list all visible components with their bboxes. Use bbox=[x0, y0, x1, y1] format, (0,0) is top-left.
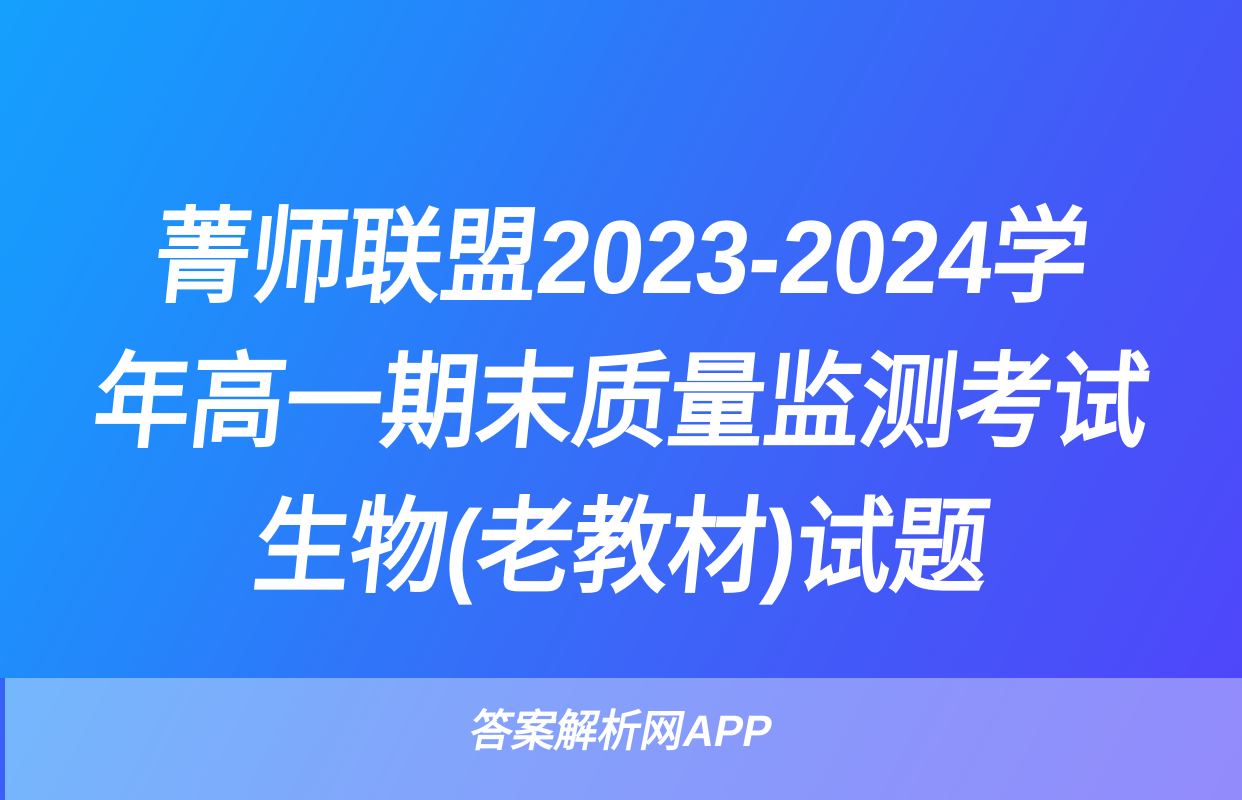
watermark-band-left-edge bbox=[0, 678, 5, 800]
watermark-label: 答案解析网APP bbox=[13, 702, 1229, 762]
title-line-2: 年高一期末质量监测考试 bbox=[36, 331, 1206, 476]
page-title: 菁师联盟2023-2024学 年高一期末质量监测考试 生物(老教材)试题 bbox=[0, 186, 1242, 621]
exam-cover-card: 菁师联盟2023-2024学 年高一期末质量监测考试 生物(老教材)试题 答案解… bbox=[0, 0, 1242, 800]
title-line-3: 生物(老教材)试题 bbox=[36, 476, 1206, 621]
title-line-1: 菁师联盟2023-2024学 bbox=[36, 186, 1206, 331]
